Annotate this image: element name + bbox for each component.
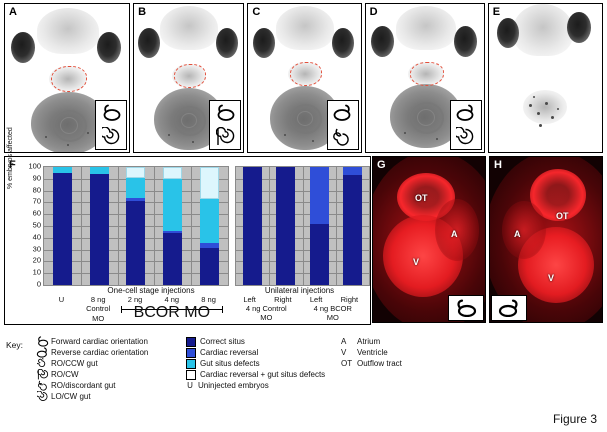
key-abbreviation-column: AAtriumVVentricleOTOutflow tract bbox=[341, 336, 402, 369]
panel-letter-h: H bbox=[494, 159, 502, 171]
bar-segment-cardiac-reversal bbox=[343, 167, 362, 175]
key-symbol-label: RO/CW bbox=[51, 370, 79, 379]
x-sub-control: Control bbox=[80, 304, 117, 314]
key-u-abbr: U bbox=[186, 382, 194, 390]
lo-cw-gut-icon bbox=[456, 127, 475, 146]
ro-ccw-gut-icon bbox=[36, 358, 49, 369]
bar-4-ng-3[interactable] bbox=[163, 167, 182, 285]
reverse-cardiac-orientation-icon bbox=[497, 299, 521, 317]
panel-letter-a: A bbox=[9, 6, 17, 18]
key-swatch-label: Correct situs bbox=[200, 337, 245, 346]
panel-letter-b: B bbox=[138, 6, 146, 18]
y-tick-100: 100 bbox=[28, 162, 41, 170]
key-abbr-label: Ventricle bbox=[357, 348, 388, 357]
bar-segment-correct-situs bbox=[200, 248, 219, 285]
x-sub-mo-left: MO bbox=[233, 313, 300, 322]
x-tick-labels-left: U8 ng2 ng4 ng8 ng bbox=[43, 295, 227, 304]
bar-left-2[interactable] bbox=[310, 167, 329, 285]
bar-segment-correct-situs bbox=[310, 224, 329, 285]
key-symbol-row: LO/CW gut bbox=[36, 391, 148, 402]
y-tick-70: 70 bbox=[33, 198, 41, 206]
x-tick-labels-right: LeftRightLeftRight bbox=[233, 295, 366, 304]
panel-g-inset bbox=[448, 295, 484, 321]
x-tick-left-4: 8 ng bbox=[190, 295, 227, 304]
fluorescence-panel-row: G OT A V H OT A V bbox=[372, 156, 603, 323]
label-atrium-g: A bbox=[451, 229, 458, 239]
label-ventricle-g: V bbox=[413, 257, 419, 267]
key-abbreviation-row: OTOutflow tract bbox=[341, 358, 402, 369]
panel-c-inset bbox=[327, 100, 359, 150]
label-atrium-h: A bbox=[514, 229, 521, 239]
bar-segment-both bbox=[126, 167, 145, 178]
ro-cw-icon bbox=[36, 369, 49, 380]
key-abbr: OT bbox=[341, 359, 357, 368]
key-symbol-label: Forward cardiac orientation bbox=[51, 337, 148, 346]
bar-segment-correct-situs bbox=[276, 167, 295, 285]
panel-letter-c: C bbox=[252, 6, 260, 18]
bar-group bbox=[236, 167, 369, 285]
key-symbol-row: Reverse cardiac orientation bbox=[36, 347, 148, 358]
bar-8-ng-1[interactable] bbox=[90, 167, 109, 285]
forward-cardiac-orientation-icon bbox=[215, 104, 235, 121]
chart-plot-area bbox=[43, 166, 366, 284]
legend-swatch bbox=[186, 348, 196, 358]
ro-discordant-gut-icon bbox=[333, 127, 352, 146]
panel-a-inset bbox=[95, 100, 127, 150]
bar-segment-correct-situs bbox=[90, 174, 109, 285]
x-group-title-right: Unilateral injections bbox=[233, 286, 366, 295]
key-title: Key: bbox=[6, 340, 23, 350]
reverse-cardiac-orientation-icon bbox=[333, 104, 353, 121]
x-tick-left-2: 2 ng bbox=[117, 295, 154, 304]
x-tick-left-0: U bbox=[43, 295, 80, 304]
legend-swatch bbox=[186, 370, 196, 380]
key-symbol-row: RO/CW bbox=[36, 369, 148, 380]
panel-letter-d: D bbox=[370, 6, 378, 18]
x-tick-right-0: Left bbox=[233, 295, 266, 304]
key-swatch-row: Correct situs bbox=[186, 336, 325, 347]
bar-right-3[interactable] bbox=[343, 167, 362, 285]
key-symbol-label: RO/CCW gut bbox=[51, 359, 98, 368]
forward-cardiac-orientation-icon bbox=[101, 104, 121, 121]
key-symbol-column: Forward cardiac orientationReverse cardi… bbox=[36, 336, 148, 402]
key-swatch-label: Cardiac reversal + gut situs defects bbox=[200, 370, 325, 379]
legend-swatch bbox=[186, 359, 196, 369]
legend-swatch bbox=[186, 337, 196, 347]
y-tick-80: 80 bbox=[33, 186, 41, 194]
plot-unilateral bbox=[235, 166, 370, 286]
x-sub-4ng-control: 4 ng Control bbox=[233, 304, 300, 313]
bar-segment-both bbox=[200, 167, 219, 199]
bar-segment-correct-situs bbox=[163, 233, 182, 285]
forward-cardiac-orientation-icon bbox=[36, 336, 49, 347]
bcor-bracket: BCOR MO bbox=[117, 304, 227, 314]
microscopy-panel-row: A bbox=[4, 3, 603, 153]
bar-group bbox=[44, 167, 228, 285]
y-tick-10: 10 bbox=[33, 268, 41, 276]
bar-2-ng-2[interactable] bbox=[126, 167, 145, 285]
reverse-cardiac-orientation-icon bbox=[456, 104, 476, 121]
bar-segment-gut-situs-defects bbox=[90, 167, 109, 174]
y-tick-60: 60 bbox=[33, 209, 41, 217]
key-swatch-row: Cardiac reversal bbox=[186, 347, 325, 358]
atrium-structure-h bbox=[502, 201, 546, 259]
figure-caption: Figure 3 bbox=[553, 412, 597, 426]
x-tick-left-3: 4 ng bbox=[153, 295, 190, 304]
panel-b[interactable]: B bbox=[133, 3, 244, 153]
x-sub-empty-u bbox=[43, 304, 80, 314]
chart-y-axis-ticks: 1009080706050403020100 bbox=[19, 166, 41, 284]
x-tick-left-1: 8 ng bbox=[80, 295, 117, 304]
chart-y-axis-label: % embryos affected bbox=[7, 99, 14, 189]
key-symbol-row: Forward cardiac orientation bbox=[36, 336, 148, 347]
x-axis-group-left: One-cell stage injections U8 ng2 ng4 ng8… bbox=[43, 286, 227, 323]
x-sub2-mo: MO bbox=[80, 314, 117, 323]
lo-cw-gut-icon bbox=[102, 127, 121, 146]
panel-h-inset bbox=[491, 295, 527, 321]
x-sub2-empty-u bbox=[43, 314, 80, 323]
label-outflow-tract-h: OT bbox=[556, 211, 569, 221]
key-abbr-label: Atrium bbox=[357, 337, 380, 346]
panel-c[interactable]: C bbox=[247, 3, 361, 153]
bar-segment-correct-situs bbox=[243, 167, 262, 285]
y-tick-20: 20 bbox=[33, 257, 41, 265]
bar-segment-both bbox=[163, 167, 182, 179]
y-tick-40: 40 bbox=[33, 233, 41, 241]
key-swatch-label: Gut situs defects bbox=[200, 359, 260, 368]
y-tick-50: 50 bbox=[33, 221, 41, 229]
key-abbreviation-row: VVentricle bbox=[341, 347, 402, 358]
panel-letter-e: E bbox=[493, 6, 500, 18]
panel-d[interactable]: D bbox=[365, 3, 485, 153]
key-symbol-label: RO/discordant gut bbox=[51, 381, 115, 390]
x-group-title-left: One-cell stage injections bbox=[75, 286, 227, 295]
key-symbol-row: RO/CCW gut bbox=[36, 358, 148, 369]
plot-one-cell-stage bbox=[43, 166, 229, 286]
panel-g[interactable]: G OT A V bbox=[372, 156, 486, 323]
panel-letter-g: G bbox=[377, 159, 386, 171]
x-sub-4ng-bcor: 4 ng BCOR bbox=[300, 304, 367, 313]
panel-b-inset bbox=[209, 100, 241, 150]
key-swatch-row: Cardiac reversal + gut situs defects bbox=[186, 369, 325, 380]
key-swatch-row: Gut situs defects bbox=[186, 358, 325, 369]
bar-segment-gut-situs-defects bbox=[126, 178, 145, 198]
x-tick-right-2: Left bbox=[300, 295, 333, 304]
key-abbr-label: Outflow tract bbox=[357, 359, 402, 368]
key-swatch-label: Cardiac reversal bbox=[200, 348, 258, 357]
panel-d-inset bbox=[450, 100, 482, 150]
reverse-cardiac-orientation-icon bbox=[36, 347, 49, 358]
bar-left-0[interactable] bbox=[243, 167, 262, 285]
chart-panel-f: F % embryos affected 1009080706050403020… bbox=[4, 156, 371, 325]
lo-cw-gut-icon bbox=[36, 391, 49, 402]
panel-a[interactable]: A bbox=[4, 3, 130, 153]
key-abbreviation-row: AAtrium bbox=[341, 336, 402, 347]
key-u-label: Uninjected embryos bbox=[198, 381, 269, 390]
x-tick-right-1: Right bbox=[266, 295, 299, 304]
bar-segment-gut-situs-defects bbox=[200, 199, 219, 243]
label-outflow-tract-g: OT bbox=[415, 193, 428, 203]
bar-segment-correct-situs bbox=[343, 175, 362, 285]
panel-e[interactable]: E bbox=[488, 3, 603, 153]
chart-x-axis: One-cell stage injections U8 ng2 ng4 ng8… bbox=[43, 286, 366, 322]
bar-segment-correct-situs bbox=[126, 201, 145, 285]
x-tick-right-3: Right bbox=[333, 295, 366, 304]
key-uninjected-row: UUninjected embryos bbox=[186, 380, 325, 391]
bcor-bracket-label: BCOR MO bbox=[134, 304, 210, 321]
bar-u-0[interactable] bbox=[53, 167, 72, 285]
ro-ccw-gut-icon bbox=[216, 127, 235, 146]
bar-8-ng-4[interactable] bbox=[200, 167, 219, 285]
y-tick-30: 30 bbox=[33, 245, 41, 253]
x-sub-mo-right: MO bbox=[300, 313, 367, 322]
bar-segment-correct-situs bbox=[53, 173, 72, 285]
y-tick-90: 90 bbox=[33, 174, 41, 182]
embryo-image-e bbox=[489, 4, 602, 152]
ro-discordant-gut-icon bbox=[36, 380, 49, 391]
key-swatch-column: Correct situsCardiac reversalGut situs d… bbox=[186, 336, 325, 391]
key-abbr: V bbox=[341, 348, 357, 357]
key-abbr: A bbox=[341, 337, 357, 346]
x-axis-group-right: Unilateral injections LeftRightLeftRight… bbox=[233, 286, 366, 322]
label-ventricle-h: V bbox=[548, 273, 554, 283]
figure-3: A bbox=[0, 0, 607, 432]
bar-segment-gut-situs-defects bbox=[163, 179, 182, 231]
key-symbol-row: RO/discordant gut bbox=[36, 380, 148, 391]
figure-key: Key: Forward cardiac orientationReverse … bbox=[6, 336, 602, 414]
bar-right-1[interactable] bbox=[276, 167, 295, 285]
key-symbol-label: LO/CW gut bbox=[51, 392, 91, 401]
bar-segment-cardiac-reversal bbox=[310, 167, 329, 224]
forward-cardiac-orientation-icon bbox=[454, 299, 478, 317]
panel-h[interactable]: H OT A V bbox=[489, 156, 603, 323]
key-symbol-label: Reverse cardiac orientation bbox=[51, 348, 148, 357]
y-tick-0: 0 bbox=[37, 280, 41, 288]
